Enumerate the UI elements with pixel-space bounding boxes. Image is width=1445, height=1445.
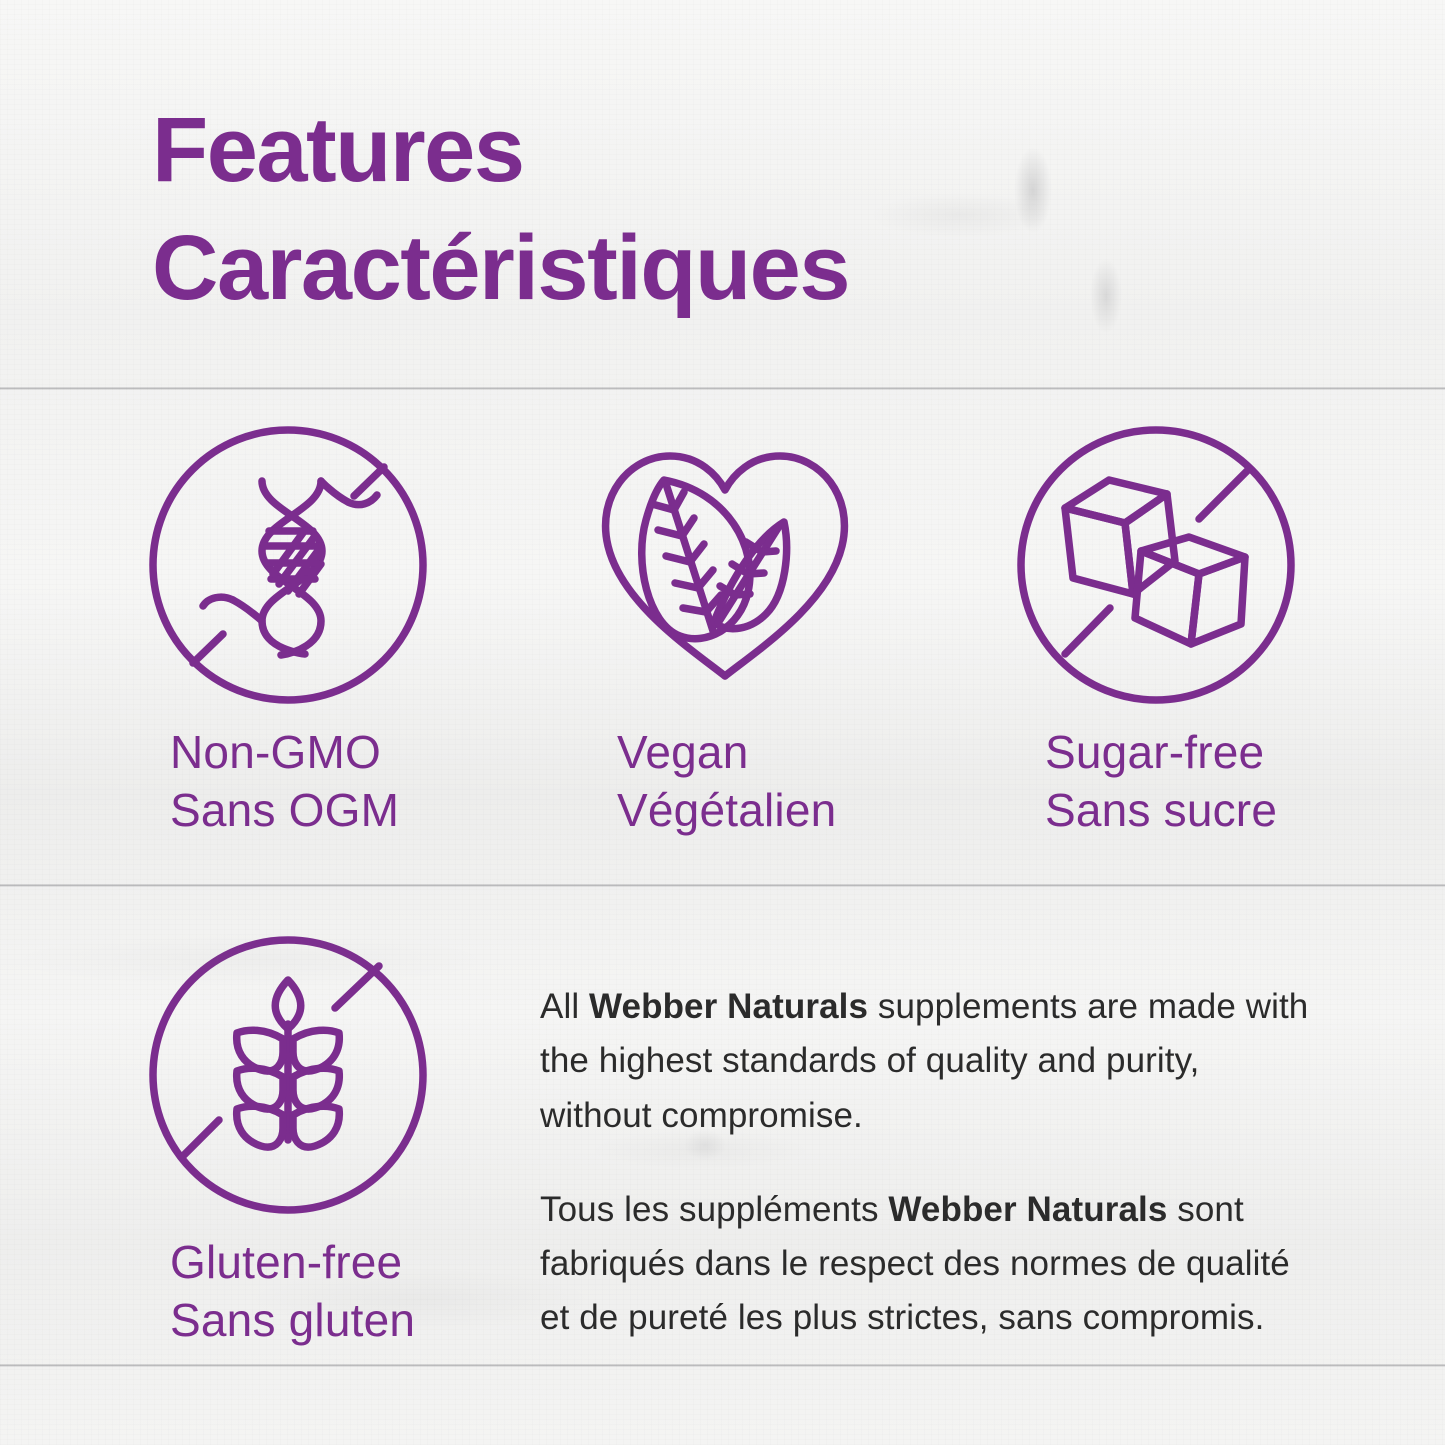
feature-vegan-labels: Vegan Végétalien (582, 724, 868, 840)
plank-seam-1 (0, 387, 1445, 390)
page-title-fr: Caractéristiques (152, 210, 849, 328)
plank-seam-3 (0, 1364, 1445, 1367)
feature-sugar-free-labels: Sugar-free Sans sucre (1013, 724, 1299, 840)
feature-non-gmo-labels: Non-GMO Sans OGM (145, 724, 431, 840)
feature-vegan: Vegan Végétalien (582, 418, 868, 840)
brand-statement-fr: Tous les suppléments Webber Naturals son… (540, 1183, 1320, 1346)
wood-plank-background: Features Caractéristiques (0, 0, 1445, 1445)
heart-leaves-icon (582, 418, 868, 704)
brand-name-en: Webber Naturals (589, 987, 868, 1026)
feature-non-gmo-label-en: Non-GMO (170, 724, 431, 782)
page-title: Features Caractéristiques (152, 92, 849, 328)
statement-en-before: All (540, 987, 589, 1026)
plank-seam-2 (0, 884, 1445, 887)
no-sugar-cubes-icon (1013, 418, 1299, 704)
feature-gluten-free-label-fr: Sans gluten (170, 1292, 431, 1350)
feature-gluten-free-label-en: Gluten-free (170, 1234, 431, 1292)
brand-name-fr: Webber Naturals (888, 1190, 1167, 1229)
feature-non-gmo: Non-GMO Sans OGM (145, 418, 431, 840)
page-title-en: Features (152, 99, 524, 201)
feature-gluten-free-labels: Gluten-free Sans gluten (145, 1234, 431, 1350)
feature-non-gmo-label-fr: Sans OGM (170, 782, 431, 840)
feature-sugar-free: Sugar-free Sans sucre (1013, 418, 1299, 840)
feature-gluten-free: Gluten-free Sans gluten (145, 928, 431, 1350)
brand-statement: All Webber Naturals supplements are made… (540, 980, 1320, 1346)
no-gmo-dna-icon (145, 418, 431, 704)
feature-sugar-free-label-en: Sugar-free (1045, 724, 1299, 782)
statement-fr-before: Tous les suppléments (540, 1190, 888, 1229)
feature-sugar-free-label-fr: Sans sucre (1045, 782, 1299, 840)
no-wheat-icon (145, 928, 431, 1214)
brand-statement-en: All Webber Naturals supplements are made… (540, 980, 1320, 1143)
feature-vegan-label-en: Vegan (617, 724, 868, 782)
feature-vegan-label-fr: Végétalien (617, 782, 868, 840)
